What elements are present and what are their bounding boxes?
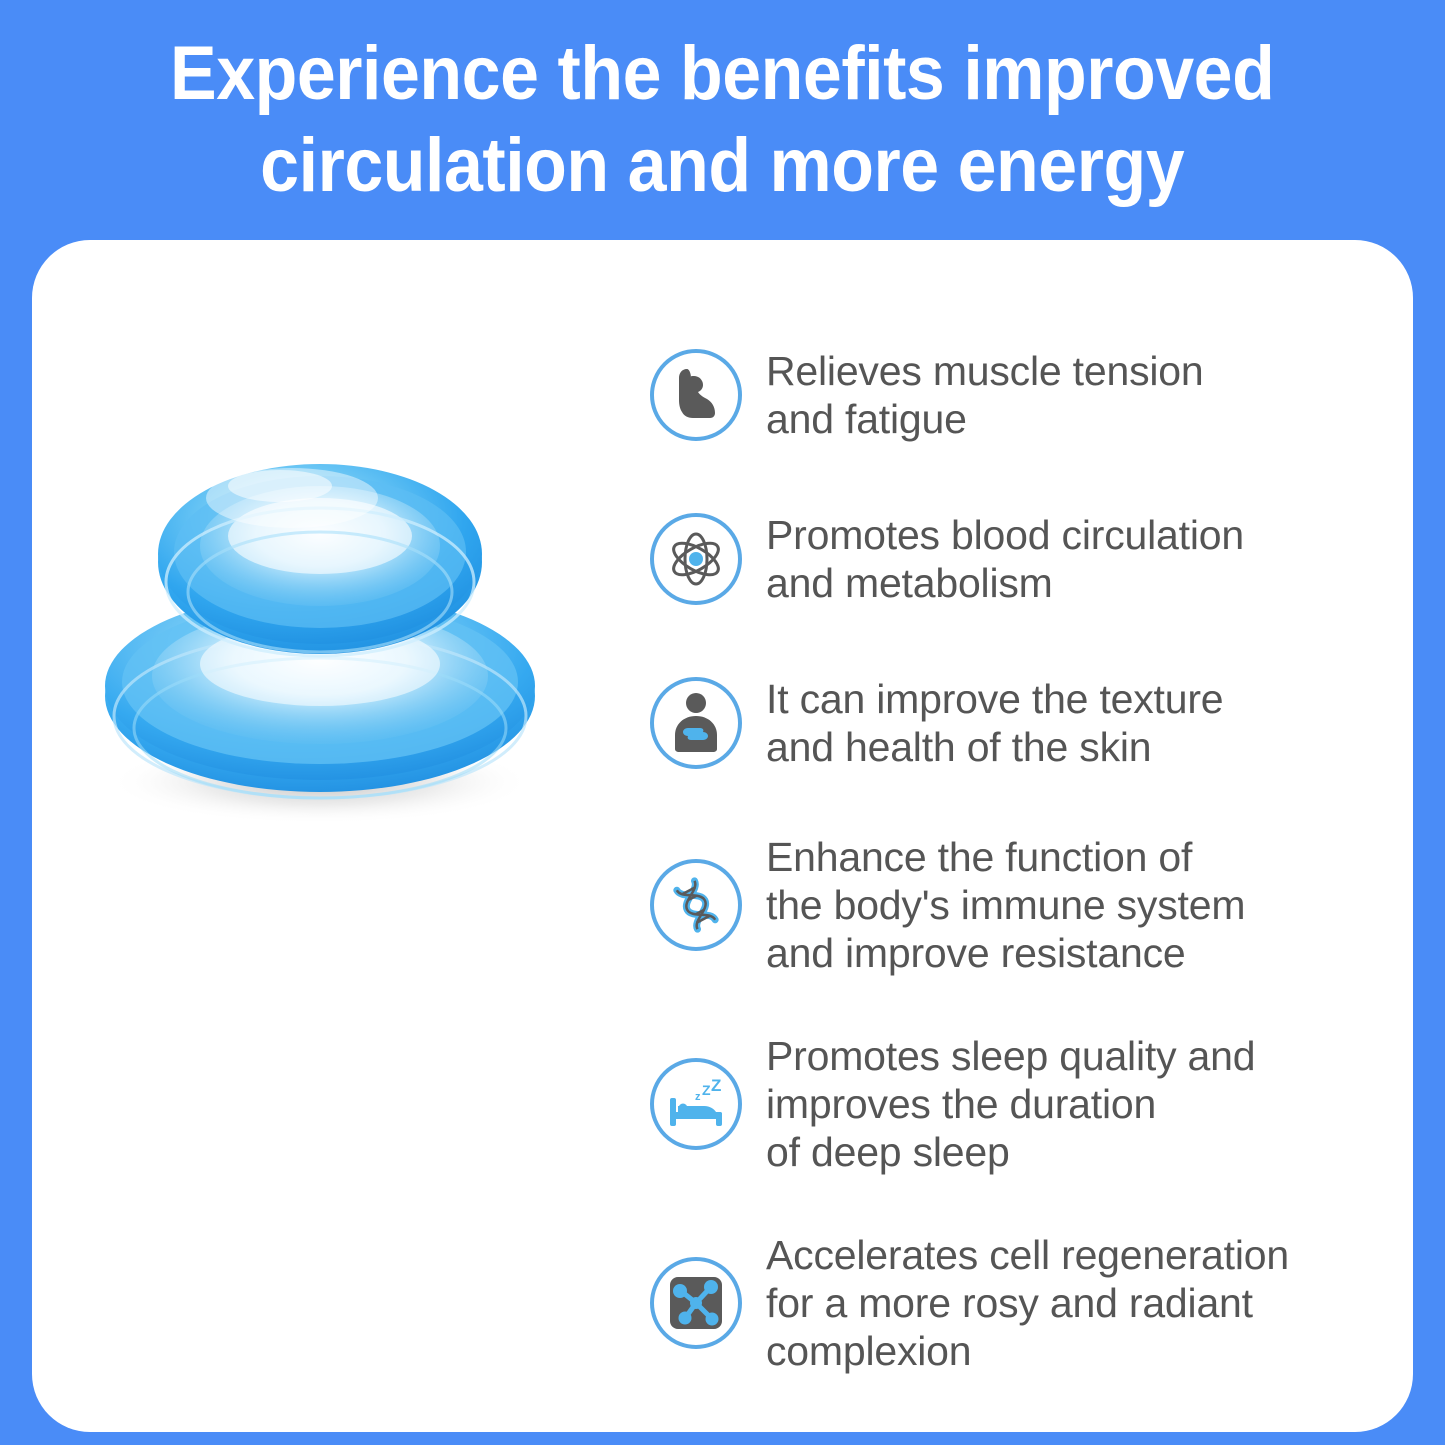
page-title-line-1: Experience the benefits improved [170, 28, 1274, 120]
benefit-label: Promotes sleep quality and improves the … [766, 1032, 1255, 1176]
dna-helix-icon [648, 857, 744, 953]
header-banner: Experience the benefits improved circula… [0, 0, 1445, 240]
benefit-label: Relieves muscle tension and fatigue [766, 347, 1204, 443]
skin-person-icon [648, 675, 744, 771]
benefit-label: Enhance the function of the body's immun… [766, 833, 1245, 977]
benefit-item: It can improve the texture and health of… [648, 643, 1408, 803]
benefits-list: Relieves muscle tension and fatigue Prom… [648, 315, 1408, 1404]
benefit-item: Enhance the function of the body's immun… [648, 807, 1408, 1002]
svg-text:Z: Z [711, 1076, 721, 1095]
svg-text:Z: Z [702, 1082, 711, 1098]
benefit-label: It can improve the texture and health of… [766, 675, 1223, 771]
page-title-line-2: circulation and more energy [261, 120, 1185, 212]
benefit-label: Accelerates cell regeneration for a more… [766, 1231, 1289, 1375]
atom-icon [648, 511, 744, 607]
infographic-page: Experience the benefits improved circula… [0, 0, 1445, 1445]
cell-molecule-icon [648, 1255, 744, 1351]
benefit-item: z Z Z Promotes sleep quality and improve… [648, 1006, 1408, 1201]
sleeping-bed-icon: z Z Z [648, 1056, 744, 1152]
product-image [40, 330, 600, 890]
benefit-item: Promotes blood circulation and metabolis… [648, 479, 1408, 639]
benefit-item: Accelerates cell regeneration for a more… [648, 1205, 1408, 1400]
benefit-label: Promotes blood circulation and metabolis… [766, 511, 1244, 607]
svg-text:z: z [695, 1091, 701, 1103]
flexed-bicep-icon [648, 347, 744, 443]
benefit-item: Relieves muscle tension and fatigue [648, 315, 1408, 475]
